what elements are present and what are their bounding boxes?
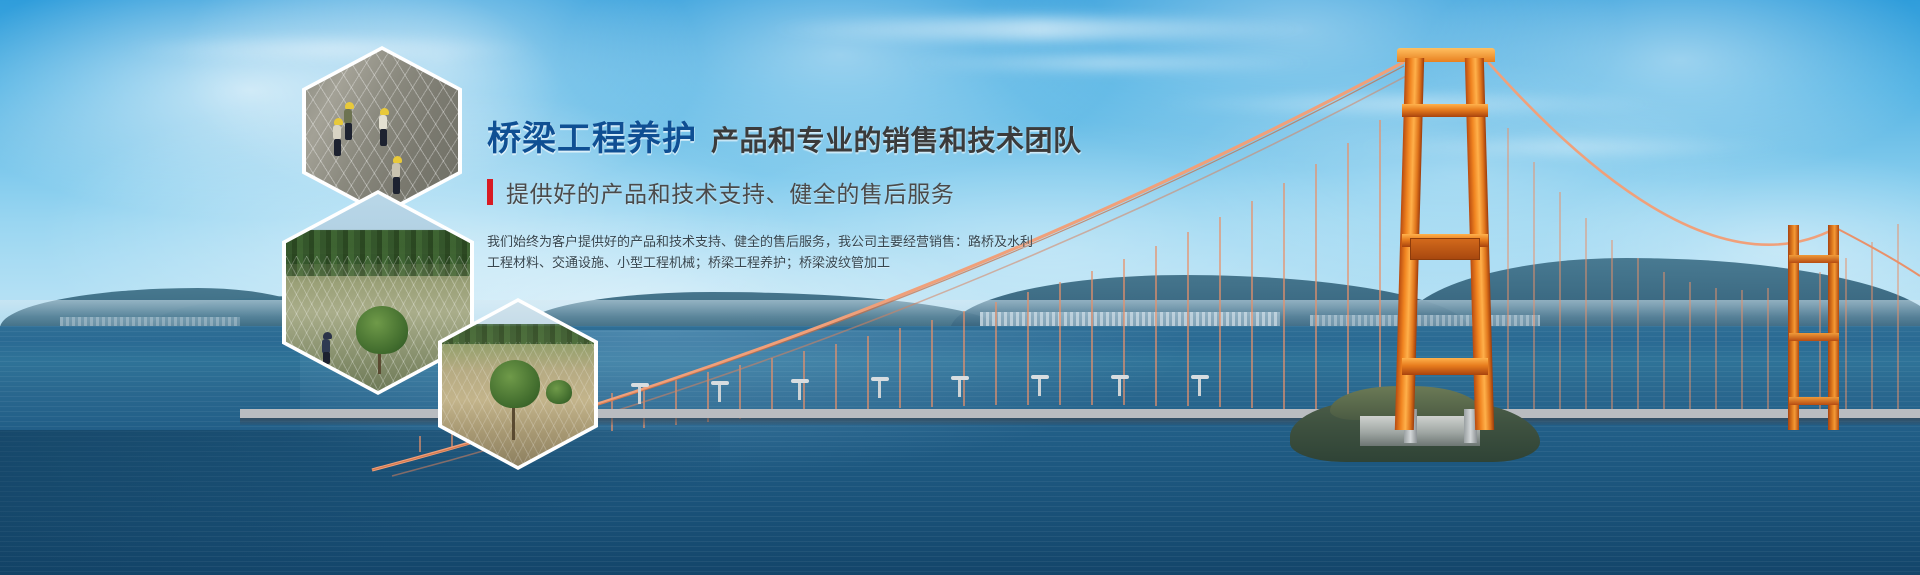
hardhat — [393, 156, 402, 163]
hardhat — [345, 102, 354, 109]
headline-main-text: 桥梁工程养护 — [487, 120, 697, 158]
pylon-signboard — [1410, 238, 1480, 260]
hardhat — [380, 108, 389, 115]
worker-legs — [323, 352, 330, 364]
worker-torso — [333, 125, 341, 140]
pylon-crossbeam — [1402, 358, 1488, 375]
worker-legs — [393, 177, 400, 194]
worker-legs — [345, 123, 352, 140]
hex-photo-inner — [442, 302, 594, 466]
headline-sub-text: 产品和专业的销售和技术团队 — [711, 125, 1082, 156]
shrub — [546, 380, 572, 404]
worker-torso — [344, 109, 352, 124]
pine-forest-band — [442, 324, 594, 344]
worker-legs — [380, 129, 387, 146]
deck-lamp — [1038, 378, 1041, 396]
deck-lamp — [1198, 378, 1201, 396]
accent-bar — [487, 179, 493, 205]
subheadline-text: 提供好的产品和技术支持、健全的售后服务 — [506, 175, 954, 209]
deck-lamp — [878, 380, 881, 398]
body-line-1: 我们始终为客户提供好的产品和技术支持、健全的售后服务，我公司主要经营销售：路桥及… — [487, 231, 1017, 252]
deck-lamp — [1118, 378, 1121, 396]
bridge-main-pylon — [1400, 58, 1492, 430]
deck-lamp — [798, 382, 801, 400]
deck-lamp — [638, 386, 641, 404]
worker-torso — [379, 115, 387, 130]
hero-banner: 桥梁工程养护产品和专业的销售和技术团队 提供好的产品和技术支持、健全的售后服务 … — [0, 0, 1920, 575]
hex-photo-inner — [306, 50, 458, 212]
hardhat — [334, 118, 343, 125]
banner-body-copy: 我们始终为客户提供好的产品和技术支持、健全的售后服务，我公司主要经营销售：路桥及… — [487, 231, 1017, 273]
sapling-canopy — [356, 306, 408, 354]
pylon-crossbeam — [1789, 333, 1839, 341]
deck-lamp — [718, 384, 721, 402]
worker-torso — [392, 163, 400, 178]
bridge-far-pylon — [1788, 225, 1840, 430]
banner-text-block: 桥梁工程养护产品和专业的销售和技术团队 提供好的产品和技术支持、健全的售后服务 … — [487, 122, 1047, 273]
banner-headline: 桥梁工程养护产品和专业的销售和技术团队 — [487, 122, 1047, 156]
hardhat — [323, 332, 332, 339]
pylon-crossbeam — [1789, 255, 1839, 263]
hex-photo-rock-slope-netting-crew — [302, 46, 462, 216]
pylon-crossbeam — [1402, 104, 1488, 117]
worker-legs — [334, 139, 341, 156]
banner-subheadline: 提供好的产品和技术支持、健全的售后服务 — [487, 175, 1047, 209]
body-line-2: 工程材料、交通设施、小型工程机械；桥梁工程养护；桥梁波纹管加工 — [487, 252, 1017, 273]
deck-lamp — [958, 379, 961, 397]
pylon-crossbeam — [1789, 397, 1839, 405]
sapling-canopy — [490, 360, 540, 408]
